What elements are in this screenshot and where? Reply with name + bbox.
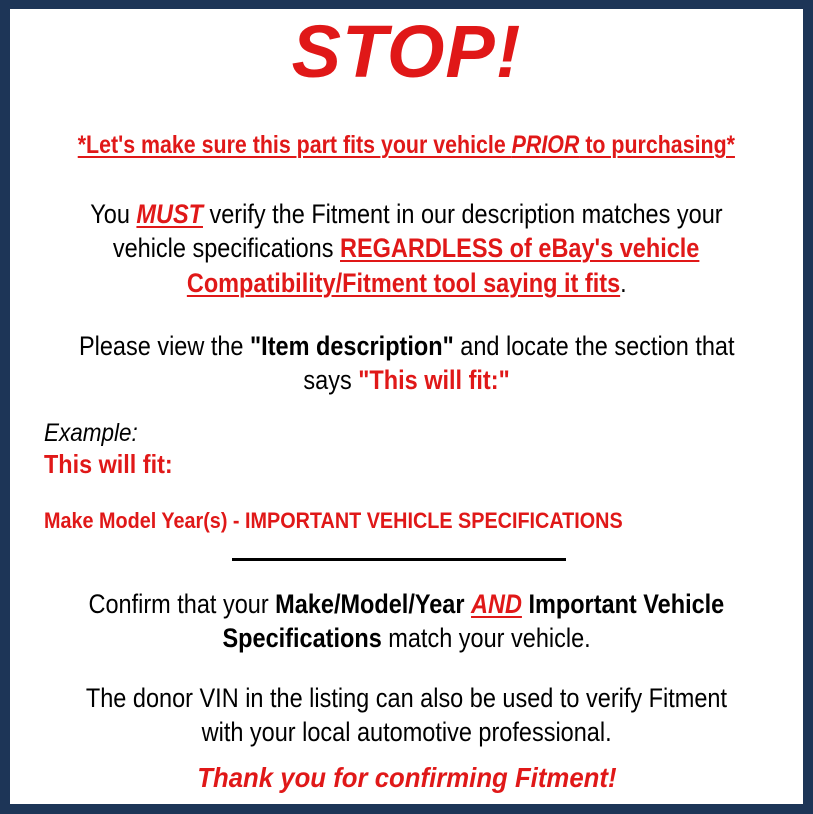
paragraph-donor-vin: The donor VIN in the listing can also be…: [10, 681, 803, 750]
must-line1-b: verify the Fitment in our description ma…: [203, 199, 723, 229]
subheadline: *Let's make sure this part fits your veh…: [10, 131, 803, 159]
notice-frame: STOP! *Let's make sure this part fits yo…: [0, 0, 813, 814]
subheadline-part2: to purchasing*: [580, 131, 736, 159]
must-emphasis: MUST: [136, 199, 203, 229]
paragraph-must-line-2: vehicle specifications REGARDLESS of eBa…: [10, 231, 803, 265]
paragraph-vin-line-1: The donor VIN in the listing can also be…: [10, 681, 803, 715]
this-will-fit-quote: "This will fit:": [358, 365, 509, 395]
confirm-line1-a: Confirm that your: [89, 589, 276, 619]
paragraph-vin-line-2: with your local automotive professional.: [10, 715, 803, 749]
view-line1-a: Please view the: [79, 331, 250, 361]
subheadline-text: *Let's make sure this part fits your veh…: [78, 131, 735, 159]
example-fit-line: This will fit:: [44, 450, 803, 480]
paragraph-view-line-2: says "This will fit:": [10, 363, 803, 397]
confirm-line2-b: match your vehicle.: [382, 623, 591, 653]
item-description-label: "Item description": [250, 331, 454, 361]
view-line2-a: says: [303, 365, 358, 395]
make-model-year-label: Make/Model/Year: [275, 589, 471, 619]
must-line1-a: You: [90, 199, 136, 229]
stop-headline: STOP!: [10, 15, 803, 89]
paragraph-must-line-1: You MUST verify the Fitment in our descr…: [10, 197, 803, 231]
paragraph-confirm-line-2: Specifications match your vehicle.: [10, 621, 803, 655]
example-block: Example: This will fit: Make Model Year(…: [10, 419, 803, 533]
example-spec-line: Make Model Year(s) - IMPORTANT VEHICLE S…: [44, 508, 803, 533]
subheadline-prior-emphasis: PRIOR: [512, 131, 580, 159]
important-vehicle-label: Important Vehicle: [522, 589, 724, 619]
must-line3-b: .: [620, 268, 627, 298]
view-line1-b: and locate the section that: [453, 331, 734, 361]
regardless-emphasis: REGARDLESS of eBay's vehicle: [340, 233, 699, 263]
paragraph-confirm: Confirm that your Make/Model/Year AND Im…: [10, 587, 803, 656]
compatibility-emphasis: Compatibility/Fitment tool saying it fit…: [187, 268, 620, 298]
specifications-label: Specifications: [222, 623, 381, 653]
must-line2-a: vehicle specifications: [113, 233, 340, 263]
paragraph-view-line-1: Please view the "Item description" and l…: [10, 329, 803, 363]
closing-thank-you: Thank you for confirming Fitment!: [10, 762, 803, 794]
paragraph-confirm-line-1: Confirm that your Make/Model/Year AND Im…: [10, 587, 803, 621]
section-divider: [232, 558, 566, 561]
and-emphasis: AND: [471, 589, 522, 619]
paragraph-must-line-3: Compatibility/Fitment tool saying it fit…: [10, 266, 803, 300]
subheadline-part1: *Let's make sure this part fits your veh…: [78, 131, 512, 159]
paragraph-view-description: Please view the "Item description" and l…: [10, 329, 803, 398]
notice-card: STOP! *Let's make sure this part fits yo…: [10, 9, 803, 804]
paragraph-must-verify: You MUST verify the Fitment in our descr…: [10, 197, 803, 300]
example-label: Example:: [44, 419, 803, 448]
